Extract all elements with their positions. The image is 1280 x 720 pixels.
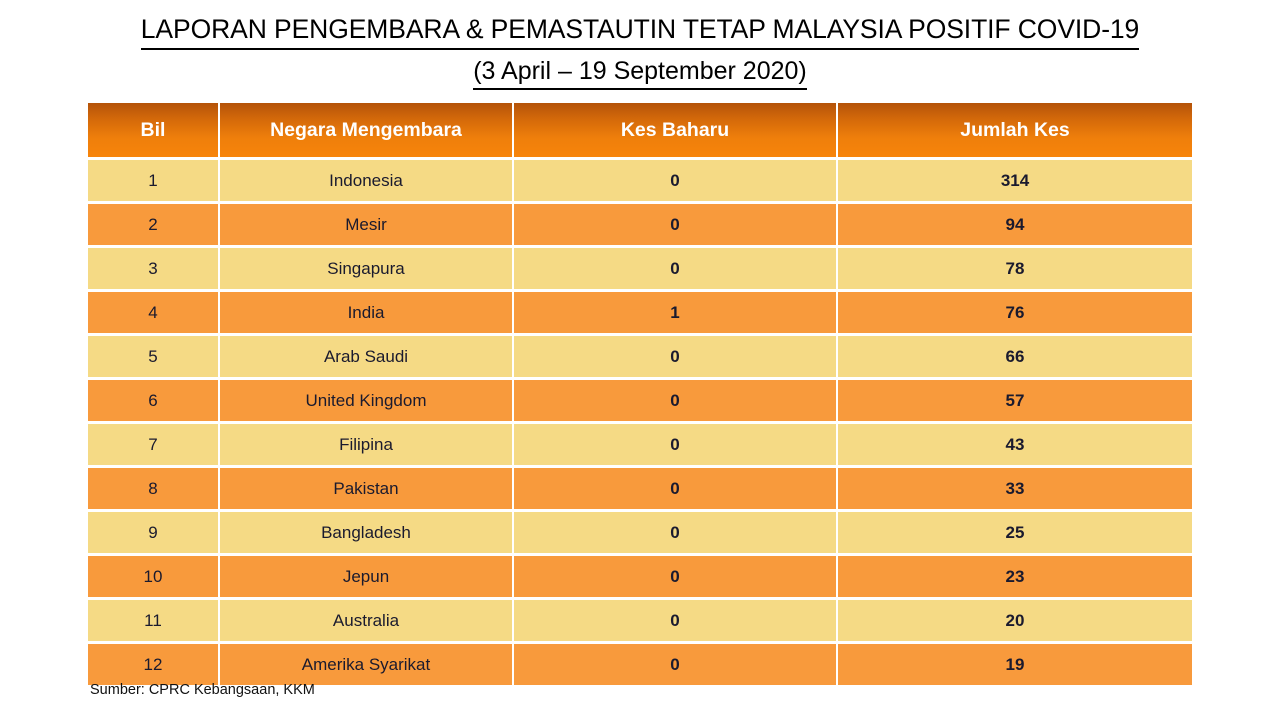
cell-negara: Filipina [220,424,514,468]
table-row: 11 Australia 0 20 [88,600,1192,644]
source-note: Sumber: CPRC Kebangsaan, KKM [90,682,315,698]
cell-bil: 7 [88,424,220,468]
cell-bil: 5 [88,336,220,380]
cell-kes-baharu: 0 [514,644,838,685]
table-row: 5 Arab Saudi 0 66 [88,336,1192,380]
table-row: 4 India 1 76 [88,292,1192,336]
cell-negara: Pakistan [220,468,514,512]
cell-kes-baharu: 0 [514,380,838,424]
cell-negara: United Kingdom [220,380,514,424]
table-row: 7 Filipina 0 43 [88,424,1192,468]
cell-negara: Singapura [220,248,514,292]
travellers-cases-table: Bil Negara Mengembara Kes Baharu Jumlah … [88,103,1192,685]
table-header: Bil Negara Mengembara Kes Baharu Jumlah … [88,103,1192,160]
column-header-baharu: Kes Baharu [514,103,838,160]
cell-jumlah-kes: 314 [838,160,1192,204]
table-row: 2 Mesir 0 94 [88,204,1192,248]
data-table-container: Bil Negara Mengembara Kes Baharu Jumlah … [88,103,1192,685]
cell-negara: Mesir [220,204,514,248]
table-row: 10 Jepun 0 23 [88,556,1192,600]
cell-negara: Bangladesh [220,512,514,556]
cell-bil: 9 [88,512,220,556]
cell-bil: 12 [88,644,220,685]
cell-bil: 10 [88,556,220,600]
cell-kes-baharu: 0 [514,248,838,292]
page-subtitle: (3 April – 19 September 2020) [473,55,807,91]
cell-kes-baharu: 0 [514,424,838,468]
cell-negara: Indonesia [220,160,514,204]
cell-bil: 11 [88,600,220,644]
cell-bil: 6 [88,380,220,424]
slide-canvas: LAPORAN PENGEMBARA & PEMASTAUTIN TETAP M… [0,0,1280,720]
cell-kes-baharu: 1 [514,292,838,336]
table-row: 9 Bangladesh 0 25 [88,512,1192,556]
cell-bil: 1 [88,160,220,204]
page-title: LAPORAN PENGEMBARA & PEMASTAUTIN TETAP M… [141,12,1139,50]
table-row: 8 Pakistan 0 33 [88,468,1192,512]
subtitle-wrapper: (3 April – 19 September 2020) [0,55,1280,91]
cell-bil: 8 [88,468,220,512]
cell-jumlah-kes: 78 [838,248,1192,292]
cell-jumlah-kes: 19 [838,644,1192,685]
cell-jumlah-kes: 94 [838,204,1192,248]
cell-jumlah-kes: 43 [838,424,1192,468]
table-row: 6 United Kingdom 0 57 [88,380,1192,424]
cell-negara: Arab Saudi [220,336,514,380]
cell-kes-baharu: 0 [514,336,838,380]
cell-jumlah-kes: 33 [838,468,1192,512]
table-row: 12 Amerika Syarikat 0 19 [88,644,1192,685]
cell-bil: 4 [88,292,220,336]
column-header-bil: Bil [88,103,220,160]
cell-jumlah-kes: 25 [838,512,1192,556]
column-header-negara: Negara Mengembara [220,103,514,160]
cell-kes-baharu: 0 [514,512,838,556]
cell-negara: Amerika Syarikat [220,644,514,685]
cell-jumlah-kes: 57 [838,380,1192,424]
column-header-jumlah: Jumlah Kes [838,103,1192,160]
cell-kes-baharu: 0 [514,556,838,600]
cell-kes-baharu: 0 [514,468,838,512]
cell-jumlah-kes: 76 [838,292,1192,336]
cell-kes-baharu: 0 [514,600,838,644]
table-row: 1 Indonesia 0 314 [88,160,1192,204]
cell-negara: Jepun [220,556,514,600]
cell-jumlah-kes: 20 [838,600,1192,644]
table-header-row: Bil Negara Mengembara Kes Baharu Jumlah … [88,103,1192,160]
title-block: LAPORAN PENGEMBARA & PEMASTAUTIN TETAP M… [0,12,1280,90]
cell-negara: India [220,292,514,336]
cell-jumlah-kes: 23 [838,556,1192,600]
cell-negara: Australia [220,600,514,644]
table-row: 3 Singapura 0 78 [88,248,1192,292]
cell-kes-baharu: 0 [514,160,838,204]
cell-bil: 3 [88,248,220,292]
table-body: 1 Indonesia 0 314 2 Mesir 0 94 3 Singapu… [88,160,1192,685]
cell-kes-baharu: 0 [514,204,838,248]
cell-bil: 2 [88,204,220,248]
cell-jumlah-kes: 66 [838,336,1192,380]
